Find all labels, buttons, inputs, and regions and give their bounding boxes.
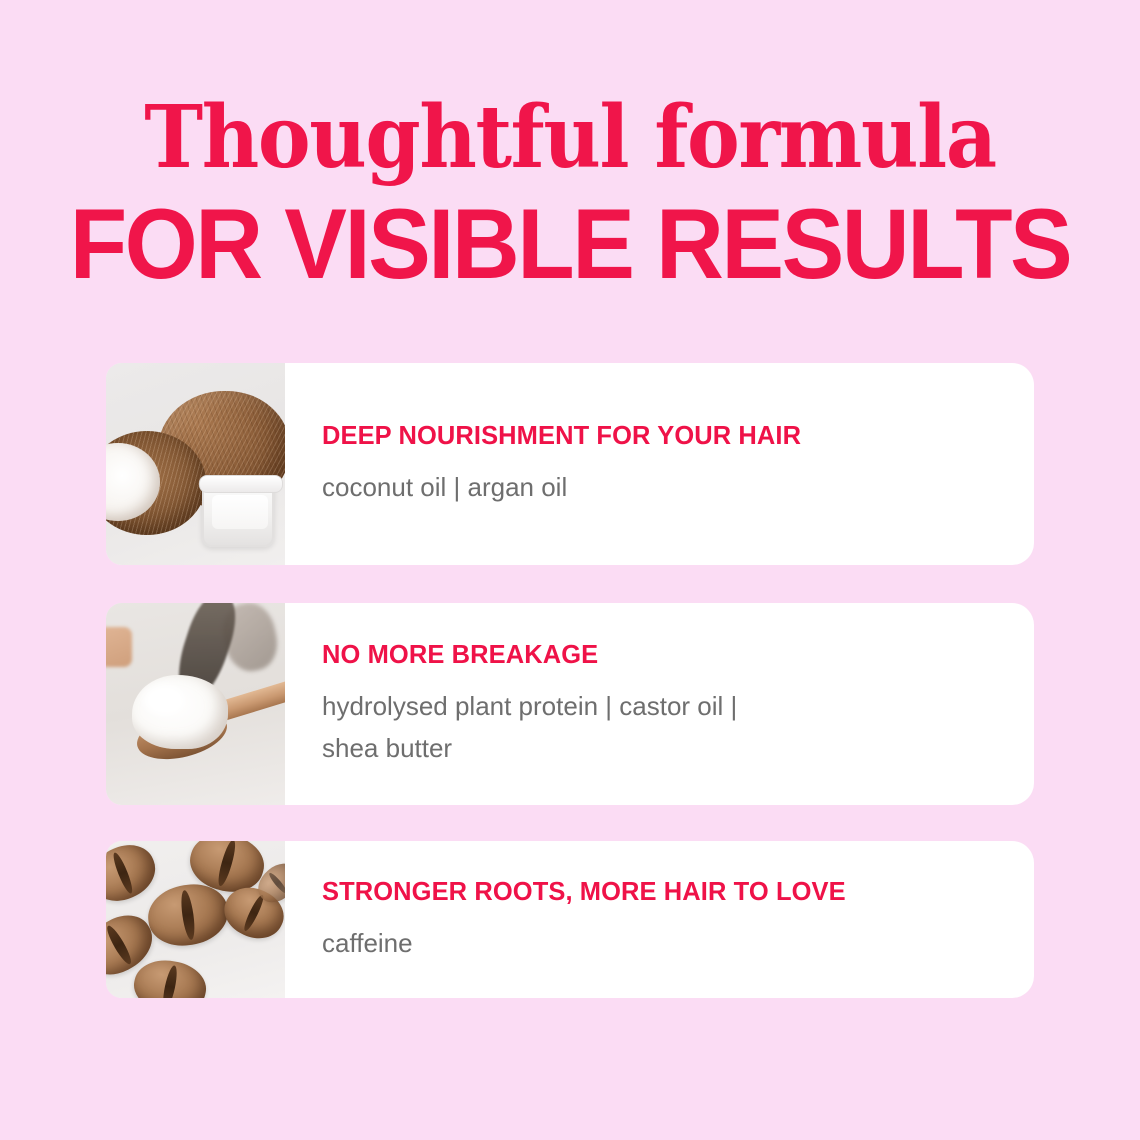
card-ingredients: coconut oil | argan oil xyxy=(322,466,802,508)
benefit-card[interactable]: NO MORE BREAKAGE hydrolysed plant protei… xyxy=(106,603,1034,805)
benefit-card[interactable]: STRONGER ROOTS, MORE HAIR TO LOVE caffei… xyxy=(106,841,1034,998)
card-text-block: DEEP NOURISHMENT FOR YOUR HAIR coconut o… xyxy=(285,363,1034,565)
shea-butter-icon xyxy=(132,675,228,749)
card-thumbnail-coffee xyxy=(106,841,285,998)
card-ingredients: caffeine xyxy=(322,922,802,964)
coffee-beans-illustration xyxy=(106,841,285,998)
spoon-illustration xyxy=(106,603,285,805)
card-text-block: STRONGER ROOTS, MORE HAIR TO LOVE caffei… xyxy=(285,841,1034,998)
headline-line-2: FOR VISIBLE RESULTS xyxy=(0,193,1140,295)
card-title: STRONGER ROOTS, MORE HAIR TO LOVE xyxy=(322,876,996,906)
benefit-card[interactable]: DEEP NOURISHMENT FOR YOUR HAIR coconut o… xyxy=(106,363,1034,565)
card-title: DEEP NOURISHMENT FOR YOUR HAIR xyxy=(322,420,996,450)
headline-block: Thoughtful formula FOR VISIBLE RESULTS xyxy=(0,90,1140,292)
card-thumbnail-coconut xyxy=(106,363,285,565)
card-text-block: NO MORE BREAKAGE hydrolysed plant protei… xyxy=(285,603,1034,805)
card-ingredients: hydrolysed plant protein | castor oil | … xyxy=(322,685,800,769)
cream-jar-icon xyxy=(202,477,274,547)
coconut-illustration xyxy=(106,363,285,565)
card-thumbnail-shea-butter xyxy=(106,603,285,805)
benefit-card-list: DEEP NOURISHMENT FOR YOUR HAIR coconut o… xyxy=(106,363,1034,998)
headline-line-1: Thoughtful formula xyxy=(46,90,1095,186)
poster-canvas: Thoughtful formula FOR VISIBLE RESULTS D… xyxy=(0,0,1140,1140)
card-title: NO MORE BREAKAGE xyxy=(322,639,996,669)
